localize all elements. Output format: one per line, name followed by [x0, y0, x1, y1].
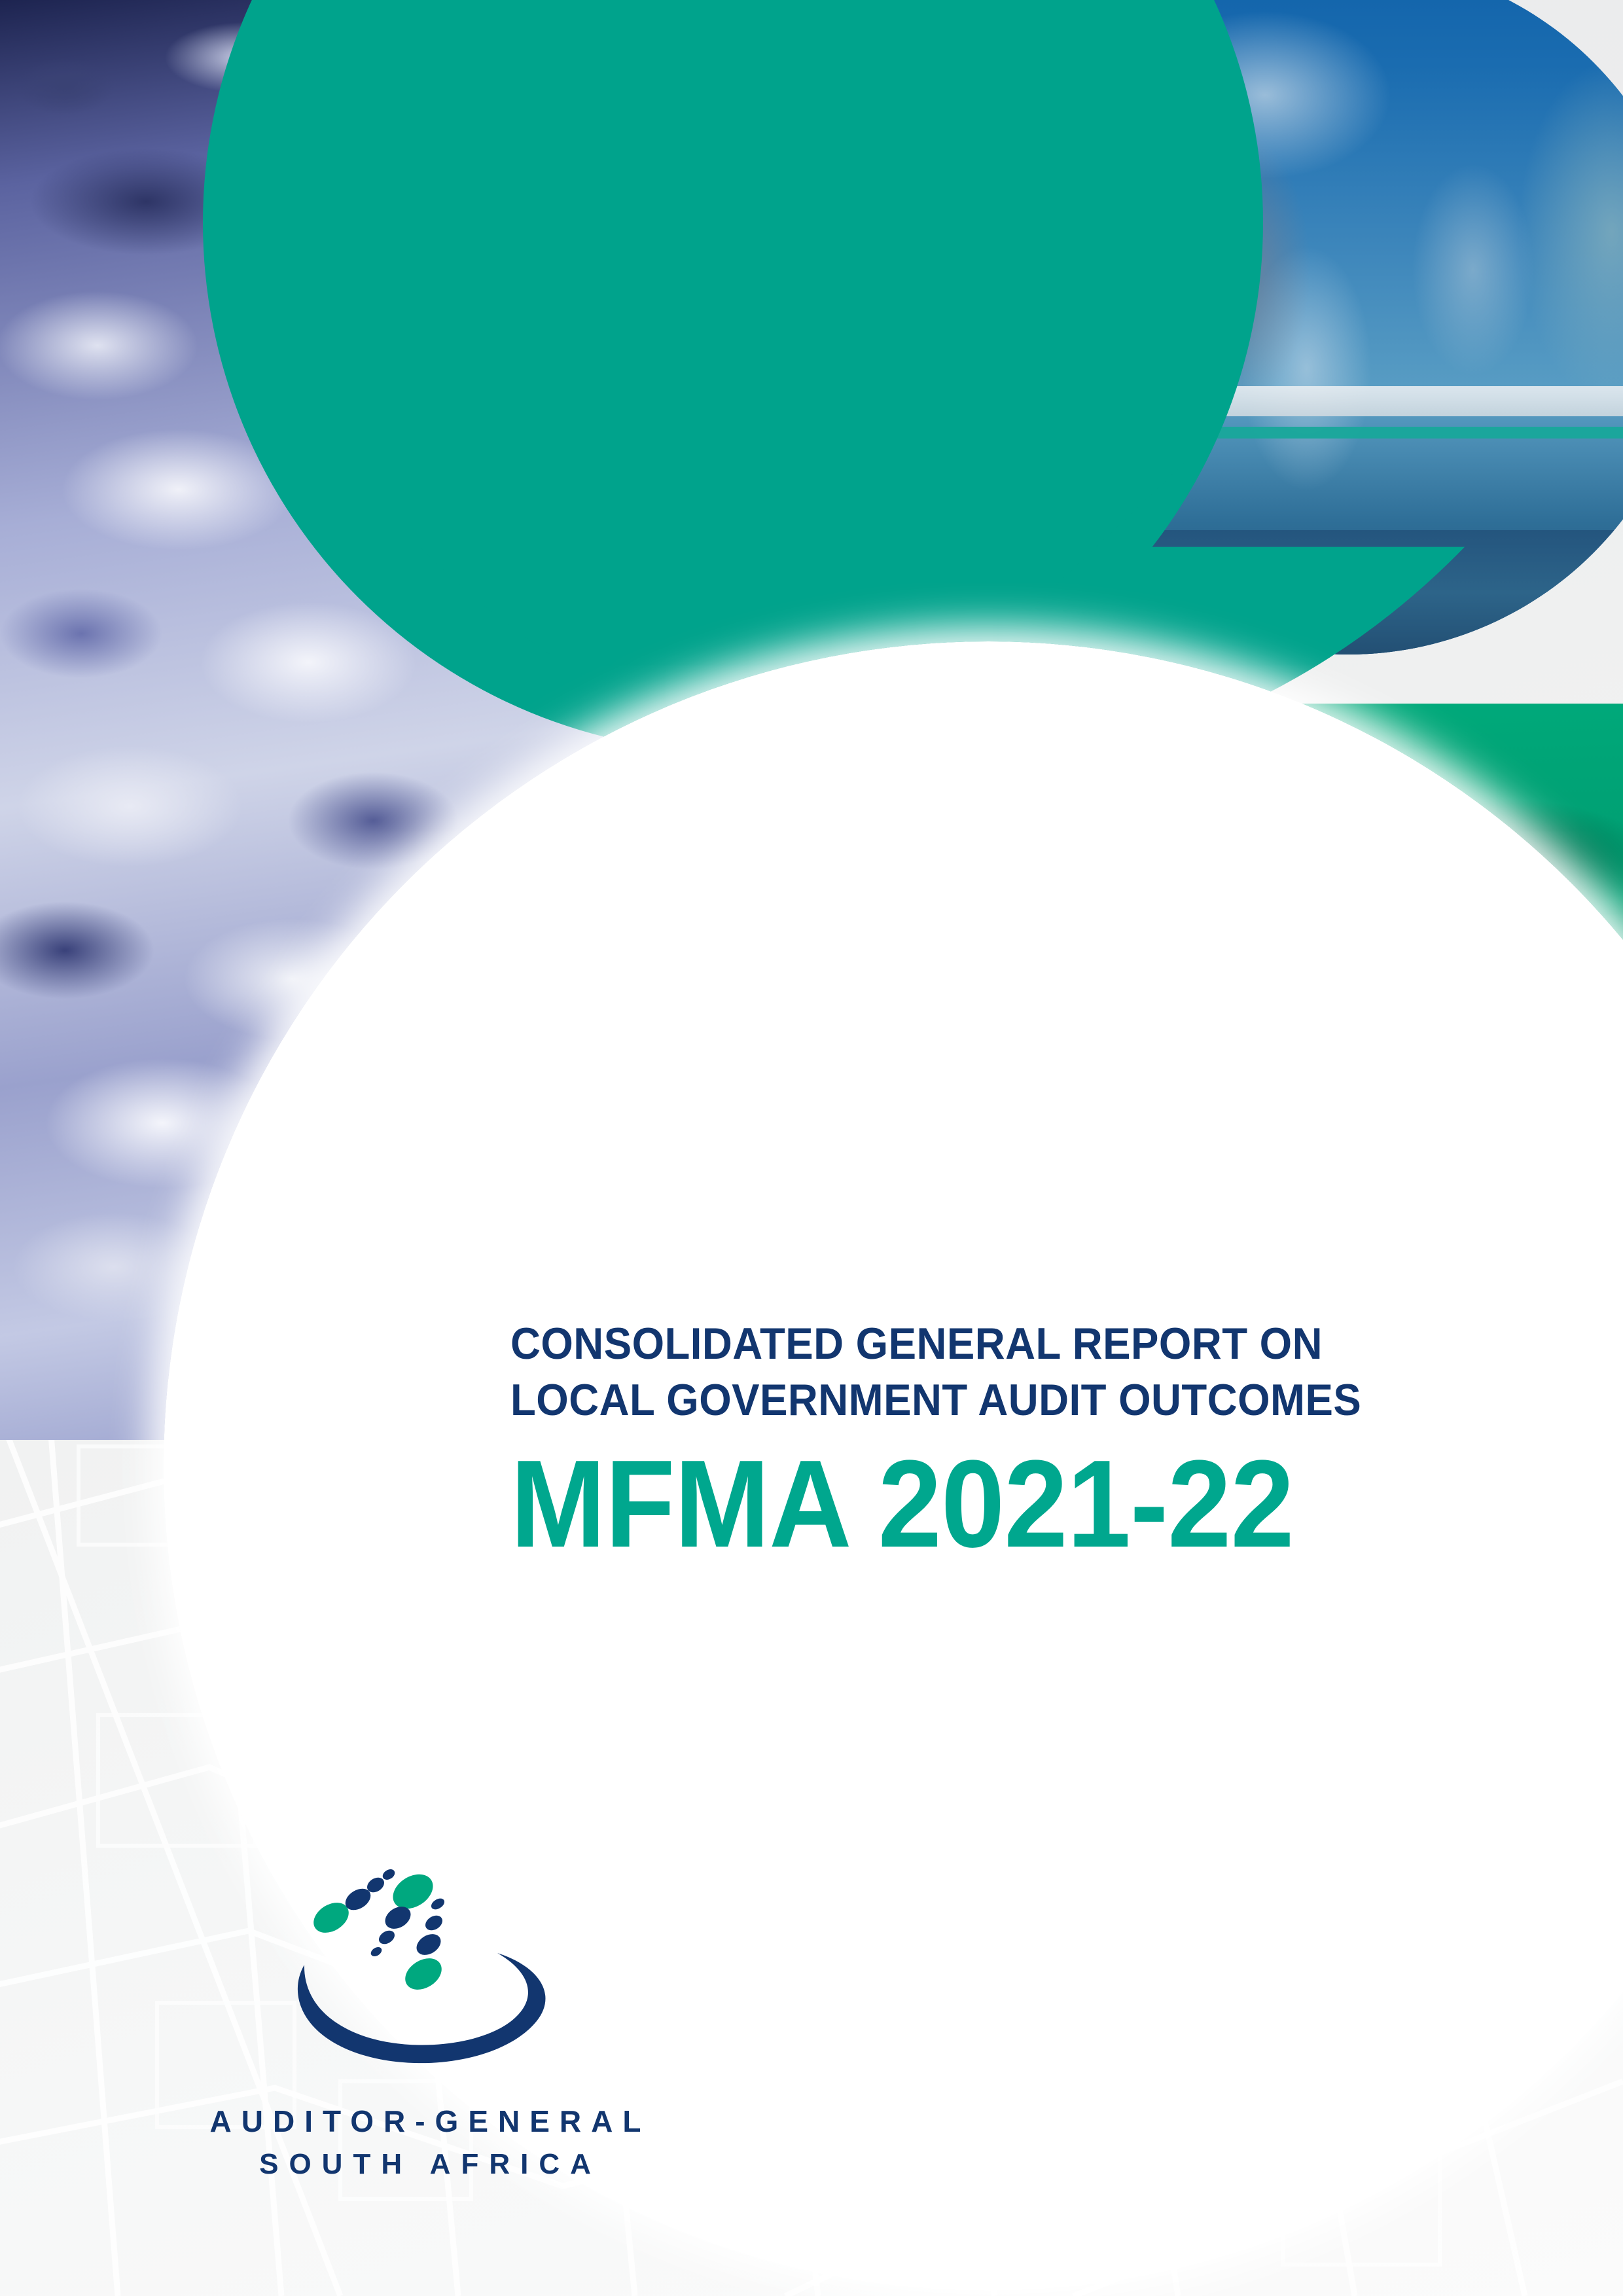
title-line-1: CONSOLIDATED GENERAL REPORT ON [510, 1316, 1281, 1372]
agsa-logo-mark [275, 1852, 576, 2081]
logo-org-line-1: AUDITOR-GENERAL [157, 2100, 694, 2143]
headline-mfma-year: MFMA 2021-22 [510, 1445, 1269, 1563]
orbit-dots-cluster [308, 1867, 448, 1996]
agsa-logo-wordmark: AUDITOR-GENERAL SOUTH AFRICA [157, 2100, 694, 2186]
title-line-2: LOCAL GOVERNMENT AUDIT OUTCOMES [510, 1372, 1281, 1428]
logo-org-line-2: SOUTH AFRICA [157, 2143, 694, 2186]
orbit-dots-icon [275, 1852, 576, 2081]
cover-title-block: CONSOLIDATED GENERAL REPORT ON LOCAL GOV… [510, 1316, 1335, 1563]
agsa-logo: AUDITOR-GENERAL SOUTH AFRICA [157, 1852, 694, 2186]
report-cover-page: CONSOLIDATED GENERAL REPORT ON LOCAL GOV… [0, 0, 1623, 2296]
